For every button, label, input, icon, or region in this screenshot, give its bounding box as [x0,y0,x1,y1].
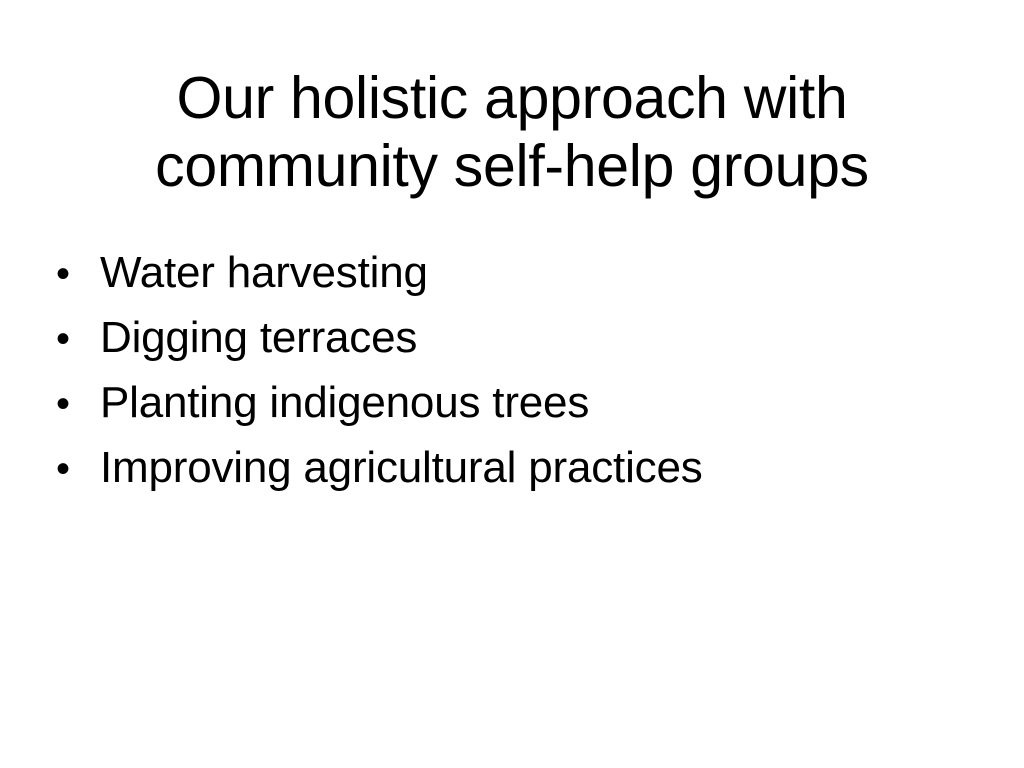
bullet-item-label: Planting indigenous trees [100,379,956,427]
bullet-item-label: Improving agricultural practices [100,444,956,492]
slide-title: Our holistic approach with community sel… [0,64,1024,200]
slide-bullet-list: • Water harvesting • Digging terraces • … [56,249,956,509]
list-item: • Improving agricultural practices [56,444,956,509]
bullet-point-icon: • [56,380,100,428]
presentation-slide: Our holistic approach with community sel… [0,0,1024,768]
bullet-item-label: Water harvesting [100,249,956,297]
bullet-item-label: Digging terraces [100,314,956,362]
list-item: • Water harvesting [56,249,956,314]
list-item: • Planting indigenous trees [56,379,956,444]
list-item: • Digging terraces [56,314,956,379]
bullet-point-icon: • [56,250,100,298]
slide-title-line-2: community self-help groups [0,132,1024,200]
slide-title-line-1: Our holistic approach with [0,64,1024,132]
bullet-point-icon: • [56,445,100,493]
bullet-point-icon: • [56,315,100,363]
